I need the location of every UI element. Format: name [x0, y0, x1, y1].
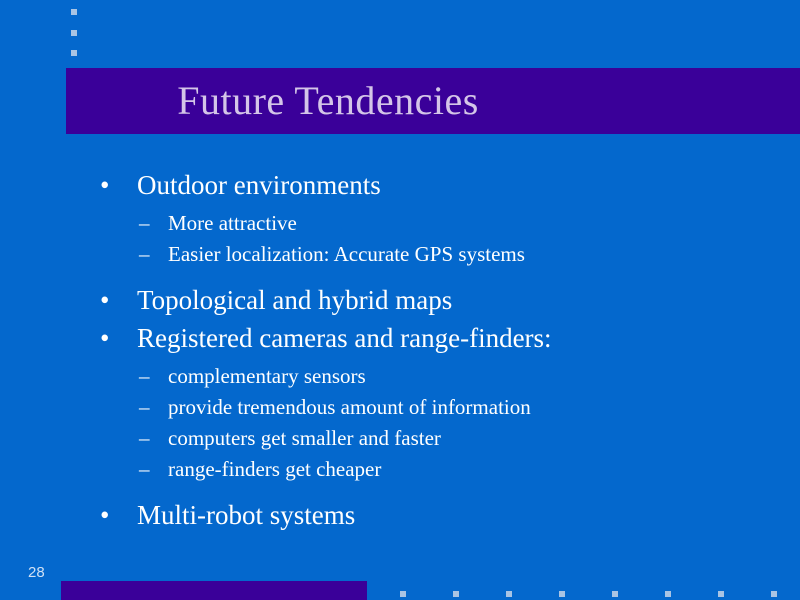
subbullet-marker-icon: – — [139, 208, 150, 239]
decorative-dot-icon — [665, 591, 671, 597]
bullet-level2: – provide tremendous amount of informati… — [0, 392, 800, 423]
bullet-marker-icon: • — [100, 319, 109, 357]
presentation-slide: Future Tendencies • Outdoor environments… — [0, 0, 800, 600]
bullet-text: Easier localization: Accurate GPS system… — [168, 242, 525, 266]
decorative-dot-icon — [71, 9, 77, 15]
subbullet-marker-icon: – — [139, 423, 150, 454]
bullet-level1: • Multi-robot systems — [0, 496, 800, 534]
bullet-text: Multi-robot systems — [137, 500, 355, 530]
bullet-level2: – More attractive — [0, 208, 800, 239]
decorative-dot-icon — [612, 591, 618, 597]
bullet-level2: – computers get smaller and faster — [0, 423, 800, 454]
slide-body: • Outdoor environments – More attractive… — [0, 166, 800, 534]
bullet-marker-icon: • — [100, 281, 109, 319]
bullet-text: Outdoor environments — [137, 170, 381, 200]
decorative-dot-icon — [400, 591, 406, 597]
bullet-text: range-finders get cheaper — [168, 457, 381, 481]
decorative-dot-icon — [506, 591, 512, 597]
bullet-level2: – Easier localization: Accurate GPS syst… — [0, 239, 800, 270]
bullet-text: complementary sensors — [168, 364, 366, 388]
bullet-level1: • Outdoor environments — [0, 166, 800, 204]
bullet-text: provide tremendous amount of information — [168, 395, 531, 419]
bullet-marker-icon: • — [100, 166, 109, 204]
decorative-dot-icon — [771, 591, 777, 597]
decorative-dot-icon — [71, 30, 77, 36]
bullet-text: Registered cameras and range-finders: — [137, 323, 552, 353]
decorative-dot-icon — [71, 50, 77, 56]
bullet-level1: • Topological and hybrid maps — [0, 281, 800, 319]
slide-title-banner: Future Tendencies — [66, 68, 800, 134]
slide-title: Future Tendencies — [177, 81, 689, 121]
decorative-dot-icon — [718, 591, 724, 597]
subbullet-marker-icon: – — [139, 454, 150, 485]
bullet-marker-icon: • — [100, 496, 109, 534]
bullet-level2: – range-finders get cheaper — [0, 454, 800, 485]
footer-dot-row — [0, 588, 800, 600]
bullet-level1: • Registered cameras and range-finders: — [0, 319, 800, 357]
decorative-dot-icon — [453, 591, 459, 597]
subbullet-marker-icon: – — [139, 239, 150, 270]
subbullet-marker-icon: – — [139, 392, 150, 423]
subbullet-marker-icon: – — [139, 361, 150, 392]
spacer — [0, 270, 800, 281]
bullet-text: More attractive — [168, 211, 297, 235]
page-number: 28 — [28, 564, 45, 581]
bullet-level2: – complementary sensors — [0, 361, 800, 392]
decorative-dot-icon — [559, 591, 565, 597]
spacer — [0, 485, 800, 496]
bullet-text: computers get smaller and faster — [168, 426, 441, 450]
bullet-text: Topological and hybrid maps — [137, 285, 452, 315]
